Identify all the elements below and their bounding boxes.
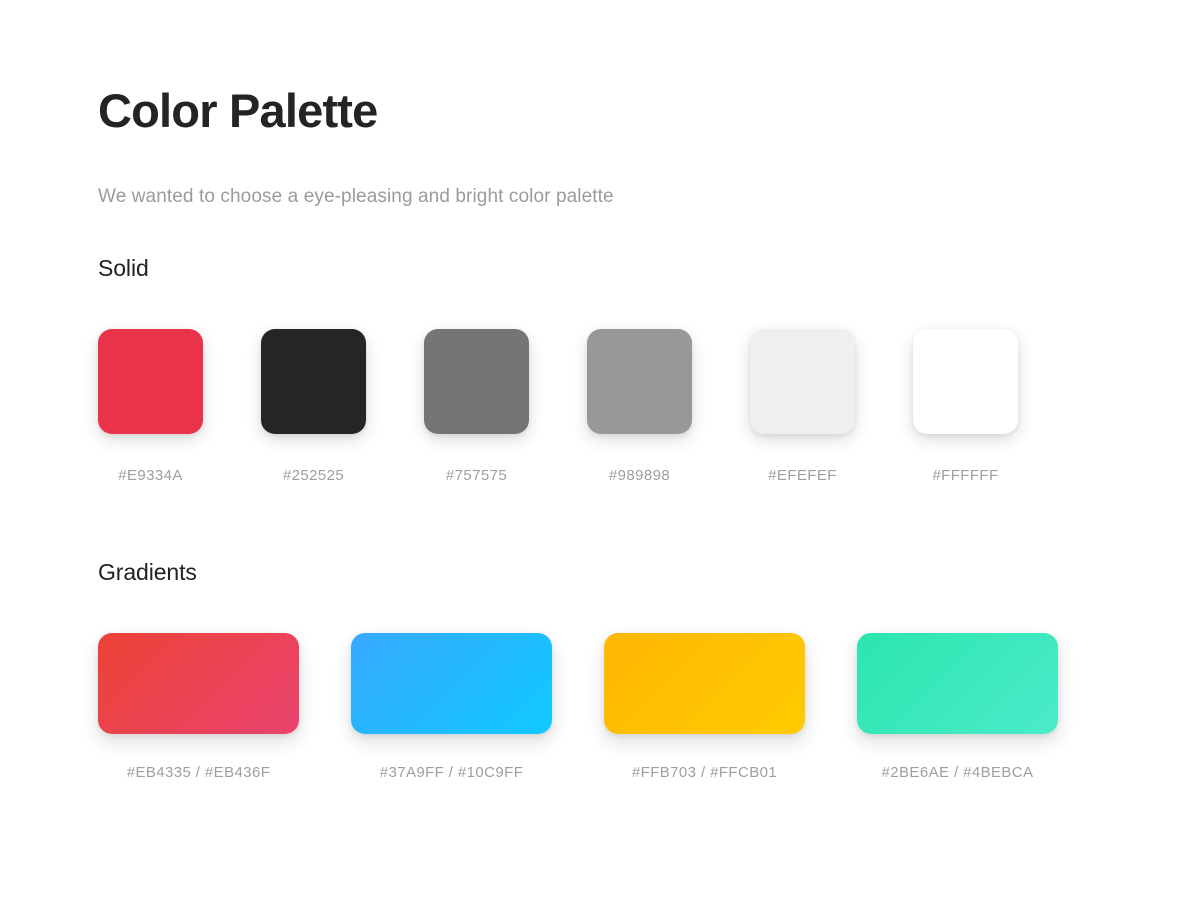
solid-swatch-label: #252525 (283, 467, 344, 484)
solid-swatch-label: #989898 (609, 467, 670, 484)
solid-swatch-cell[interactable]: #E9334A (98, 329, 203, 484)
gradient-swatch-box[interactable] (351, 633, 552, 734)
solid-swatch-box[interactable] (587, 329, 692, 434)
solid-swatch-row: #E9334A#252525#757575#989898#EFEFEF#FFFF… (98, 329, 1018, 484)
gradient-swatch-cell[interactable]: #37A9FF / #10C9FF (351, 633, 552, 781)
gradient-swatch-cell[interactable]: #FFB703 / #FFCB01 (604, 633, 805, 781)
gradient-swatch-cell[interactable]: #2BE6AE / #4BEBCA (857, 633, 1058, 781)
solid-swatch-cell[interactable]: #FFFFFF (913, 329, 1018, 484)
solid-section: Solid #E9334A#252525#757575#989898#EFEFE… (98, 255, 1018, 484)
solid-swatch-cell[interactable]: #252525 (261, 329, 366, 484)
gradients-section-heading: Gradients (98, 559, 1058, 587)
solid-swatch-box[interactable] (98, 329, 203, 434)
gradient-swatch-label: #37A9FF / #10C9FF (380, 764, 524, 781)
color-palette-page: Color Palette We wanted to choose a eye-… (0, 0, 1200, 907)
gradient-swatch-row: #EB4335 / #EB436F#37A9FF / #10C9FF#FFB70… (98, 633, 1058, 781)
gradient-swatch-box[interactable] (98, 633, 299, 734)
gradient-swatch-cell[interactable]: #EB4335 / #EB436F (98, 633, 299, 781)
gradient-swatch-label: #EB4335 / #EB436F (127, 764, 271, 781)
solid-swatch-cell[interactable]: #EFEFEF (750, 329, 855, 484)
solid-swatch-label: #757575 (446, 467, 507, 484)
gradient-swatch-box[interactable] (604, 633, 805, 734)
gradient-swatch-label: #FFB703 / #FFCB01 (632, 764, 777, 781)
gradient-swatch-label: #2BE6AE / #4BEBCA (882, 764, 1034, 781)
solid-swatch-box[interactable] (261, 329, 366, 434)
solid-swatch-cell[interactable]: #757575 (424, 329, 529, 484)
solid-swatch-cell[interactable]: #989898 (587, 329, 692, 484)
gradients-section: Gradients #EB4335 / #EB436F#37A9FF / #10… (98, 559, 1058, 781)
solid-swatch-label: #EFEFEF (768, 467, 837, 484)
solid-section-heading: Solid (98, 255, 1018, 283)
solid-swatch-label: #E9334A (118, 467, 183, 484)
page-subtitle: We wanted to choose a eye-pleasing and b… (98, 185, 614, 210)
solid-swatch-box[interactable] (913, 329, 1018, 434)
page-title: Color Palette (98, 84, 378, 138)
solid-swatch-box[interactable] (750, 329, 855, 434)
solid-swatch-box[interactable] (424, 329, 529, 434)
solid-swatch-label: #FFFFFF (932, 467, 998, 484)
gradient-swatch-box[interactable] (857, 633, 1058, 734)
